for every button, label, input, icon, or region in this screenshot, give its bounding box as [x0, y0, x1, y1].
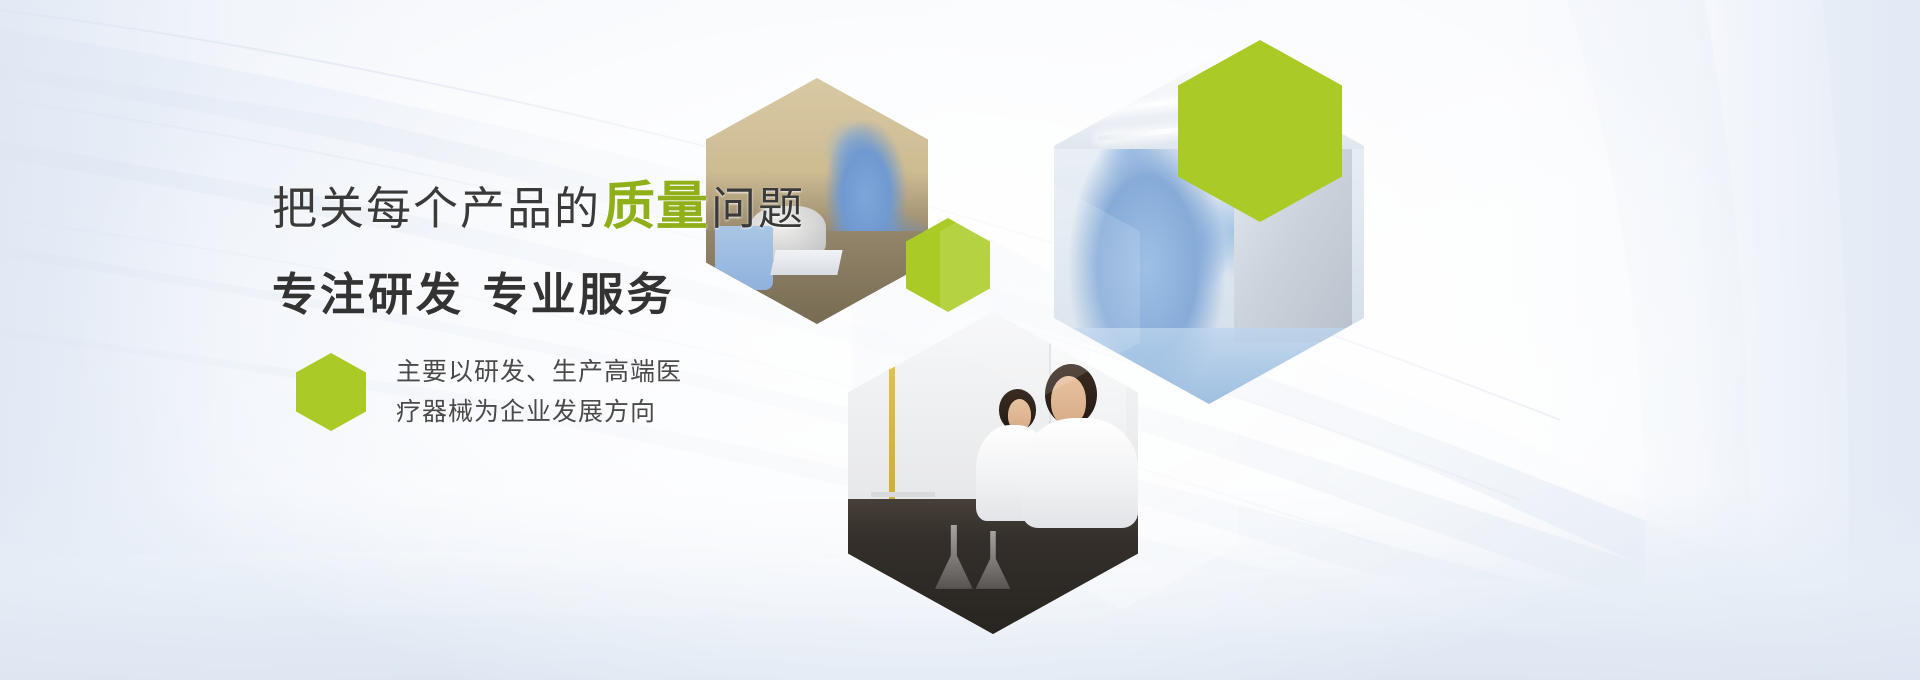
hexagon-collage: [0, 0, 1920, 680]
photo-stand-base: [871, 492, 935, 497]
banner-description-row: 主要以研发、生产高端医 疗器械为企业发展方向: [296, 352, 682, 432]
hexagon-sheen-right: [1330, 300, 1550, 544]
banner-headline: 把关每个产品的质量问题: [272, 178, 892, 238]
banner-subhead: 专注研发 专业服务: [272, 258, 892, 323]
banner-copy: 把关每个产品的质量问题 专注研发 专业服务: [272, 178, 892, 323]
headline-suffix: 问题: [711, 182, 805, 235]
photo-person-coat: [1022, 418, 1138, 527]
hero-banner: 把关每个产品的质量问题 专注研发 专业服务 主要以研发、生产高端医 疗器械为企业…: [0, 0, 1920, 680]
description-line-2: 疗器械为企业发展方向: [396, 392, 682, 432]
description-line-1: 主要以研发、生产高端医: [396, 352, 682, 392]
headline-prefix: 把关每个产品的: [272, 182, 601, 235]
headline-highlight: 质量: [601, 177, 711, 237]
hexagon-bullet-icon: [296, 353, 366, 431]
banner-description: 主要以研发、生产高端医 疗器械为企业发展方向: [396, 352, 682, 432]
